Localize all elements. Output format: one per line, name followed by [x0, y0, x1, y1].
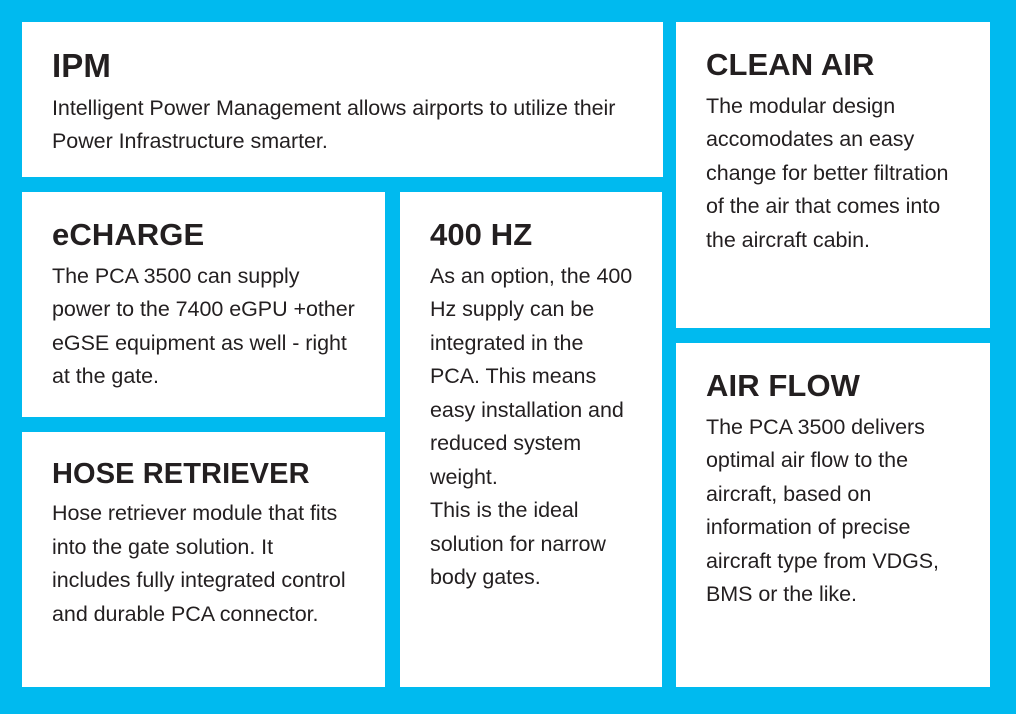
feature-board: IPM Intelligent Power Management allows … — [0, 0, 1016, 714]
card-hose-retriever[interactable]: HOSE RETRIEVER Hose retriever module tha… — [22, 432, 385, 687]
card-echarge[interactable]: eCHARGE The PCA 3500 can supply power to… — [22, 192, 385, 417]
card-echarge-title: eCHARGE — [52, 218, 357, 253]
card-400hz[interactable]: 400 HZ As an option, the 400 Hz supply c… — [400, 192, 662, 687]
card-echarge-body-text: The PCA 3500 can supply power to the 740… — [52, 260, 357, 394]
card-clean-air-title: CLEAN AIR — [706, 48, 962, 83]
card-400hz-body-text-2: This is the ideal solution for narrow bo… — [430, 494, 634, 595]
card-air-flow-body: The PCA 3500 delivers optimal air flow t… — [706, 411, 962, 612]
card-400hz-title: 400 HZ — [430, 218, 634, 253]
card-clean-air-body-text: The modular design accomodates an easy c… — [706, 90, 962, 258]
card-ipm[interactable]: IPM Intelligent Power Management allows … — [22, 22, 663, 177]
card-air-flow-title: AIR FLOW — [706, 369, 962, 404]
card-400hz-body-text-1: As an option, the 400 Hz supply can be i… — [430, 260, 634, 495]
card-clean-air-body: The modular design accomodates an easy c… — [706, 90, 962, 258]
card-clean-air[interactable]: CLEAN AIR The modular design accomodates… — [676, 22, 990, 328]
card-hose-retriever-title: HOSE RETRIEVER — [52, 458, 357, 490]
left-middle-region: IPM Intelligent Power Management allows … — [22, 22, 662, 687]
card-ipm-body-text: Intelligent Power Management allows airp… — [52, 92, 635, 159]
card-400hz-body: As an option, the 400 Hz supply can be i… — [430, 260, 634, 595]
card-ipm-body: Intelligent Power Management allows airp… — [52, 92, 635, 159]
card-hose-retriever-body-text: Hose retriever module that fits into the… — [52, 497, 357, 631]
card-ipm-title: IPM — [52, 48, 635, 85]
card-air-flow[interactable]: AIR FLOW The PCA 3500 delivers optimal a… — [676, 343, 990, 687]
card-echarge-body: The PCA 3500 can supply power to the 740… — [52, 260, 357, 394]
card-hose-retriever-body: Hose retriever module that fits into the… — [52, 497, 357, 631]
card-air-flow-body-text: The PCA 3500 delivers optimal air flow t… — [706, 411, 962, 612]
column-middle: 400 HZ As an option, the 400 Hz supply c… — [400, 192, 662, 687]
column-right: CLEAN AIR The modular design accomodates… — [676, 22, 990, 687]
column-left: eCHARGE The PCA 3500 can supply power to… — [22, 192, 385, 687]
lower-row: eCHARGE The PCA 3500 can supply power to… — [22, 192, 662, 687]
